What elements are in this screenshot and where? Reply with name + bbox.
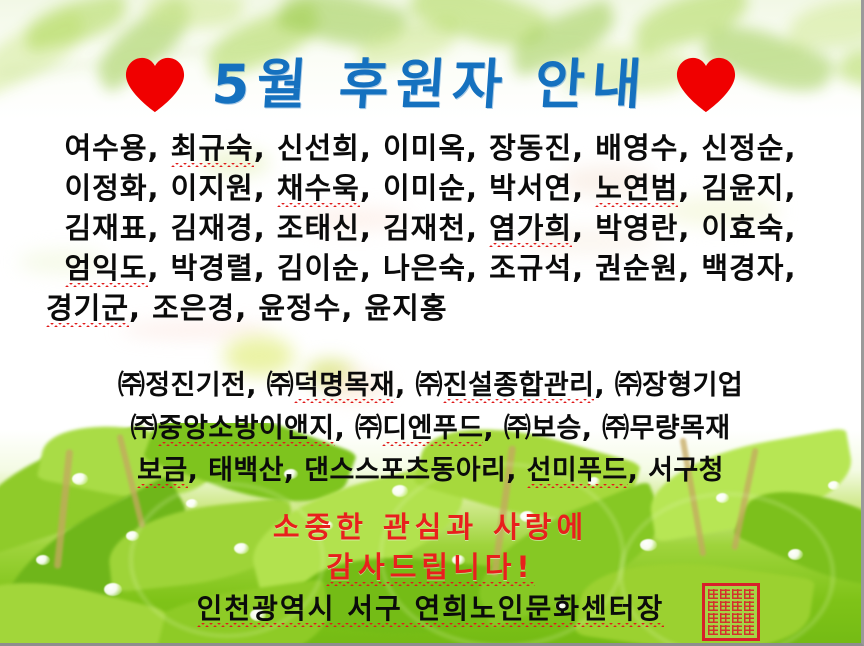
plain-text: , 서구청 — [628, 455, 724, 486]
plain-text: , ㈜보승, ㈜무량목재 — [483, 413, 730, 444]
plain-text: , ㈜ — [395, 370, 443, 401]
donor-names-line: 엄익도, 박경렬, 김이순, 나은숙, 조규석, 권순원, 백경자, — [0, 254, 861, 284]
spellcheck-underlined-text: 엄익도 — [65, 254, 148, 284]
plain-text: 김재표, 김재경, 조태신, 김재천, — [65, 211, 490, 245]
heart-icon-left — [124, 54, 186, 116]
spellcheck-underlined-text: 채수욱 — [277, 174, 360, 204]
plain-text: , 조은경, 윤정수, 윤지홍 — [129, 291, 447, 325]
plain-text: 이정화, 이지원, — [65, 171, 277, 205]
heart-icon-right — [675, 54, 737, 116]
plain-text: , 신선희, 이미옥, 장동진, 배영수, 신정순, — [254, 131, 797, 165]
plain-text: , 태백산, 댄스스포츠동아리, — [188, 455, 527, 486]
page-title: 5월 후원자 안내 — [210, 58, 650, 112]
signature-text: 인천광역시 서구 연희노인문화센터장 — [197, 595, 665, 624]
spellcheck-underlined-text: 덕명목재 — [294, 372, 395, 400]
thanks-line-2-text: 감사드립니다! — [326, 553, 534, 583]
thanks-line-1: 소중한 관심과 사랑에 — [0, 513, 861, 542]
donor-names-line: 김재표, 김재경, 조태신, 김재천, 염가희, 박영란, 이효숙, — [0, 214, 861, 244]
spellcheck-underlined-text: 노연범 — [595, 174, 678, 204]
thanks-line-2: 감사드립니다! — [0, 553, 861, 583]
spellcheck-underlined-text: 경기군 — [46, 294, 129, 324]
plain-text: 여수용, — [65, 131, 171, 165]
plain-text: , 김윤지, — [678, 171, 796, 205]
spellcheck-underlined-text: 중앙소방이앤지 — [158, 415, 335, 443]
plain-text: , 이미순, 박서연, — [360, 171, 595, 205]
spellcheck-underlined-text: 보금 — [137, 457, 187, 485]
spellcheck-underlined-text: 염가희 — [489, 214, 572, 244]
corporate-donors-line: ㈜중앙소방이앤지, ㈜디엔푸드, ㈜보승, ㈜무량목재 — [0, 415, 861, 443]
donor-names-line: 경기군, 조은경, 윤정수, 윤지홍 — [0, 294, 861, 324]
plain-text: , ㈜ — [335, 413, 383, 444]
spellcheck-underlined-text: 선미푸드 — [527, 457, 628, 485]
donor-names-line: 여수용, 최규숙, 신선희, 이미옥, 장동진, 배영수, 신정순, — [0, 134, 861, 164]
spellcheck-underlined-text: 디엔푸드 — [382, 415, 483, 443]
donor-names-line: 이정화, 이지원, 채수욱, 이미순, 박서연, 노연범, 김윤지, — [0, 174, 861, 204]
poster-title-row: 5월 후원자 안내 — [0, 40, 861, 130]
plain-text: , 박영란, 이효숙, — [572, 211, 796, 245]
spellcheck-underlined-text: 진설종합관리 — [443, 372, 594, 400]
spellcheck-underlined-text: 최규숙 — [171, 134, 254, 164]
plain-text: , ㈜장형기업 — [594, 370, 743, 401]
corporate-donors-line: 보금, 태백산, 댄스스포츠동아리, 선미푸드, 서구청 — [0, 457, 861, 485]
corporate-donors-line: ㈜정진기전, ㈜덕명목재, ㈜진설종합관리, ㈜장형기업 — [0, 372, 861, 400]
plain-text: , 박경렬, 김이순, 나은숙, 조규석, 권순원, 백경자, — [148, 251, 797, 285]
poster-canvas: 5월 후원자 안내 여수용, 최규숙, 신선희, 이미옥, 장동진, 배영수, … — [0, 0, 864, 646]
official-seal-icon — [702, 583, 760, 641]
plain-text: ㈜ — [130, 413, 157, 444]
plain-text: ㈜정진기전, ㈜ — [118, 370, 294, 401]
